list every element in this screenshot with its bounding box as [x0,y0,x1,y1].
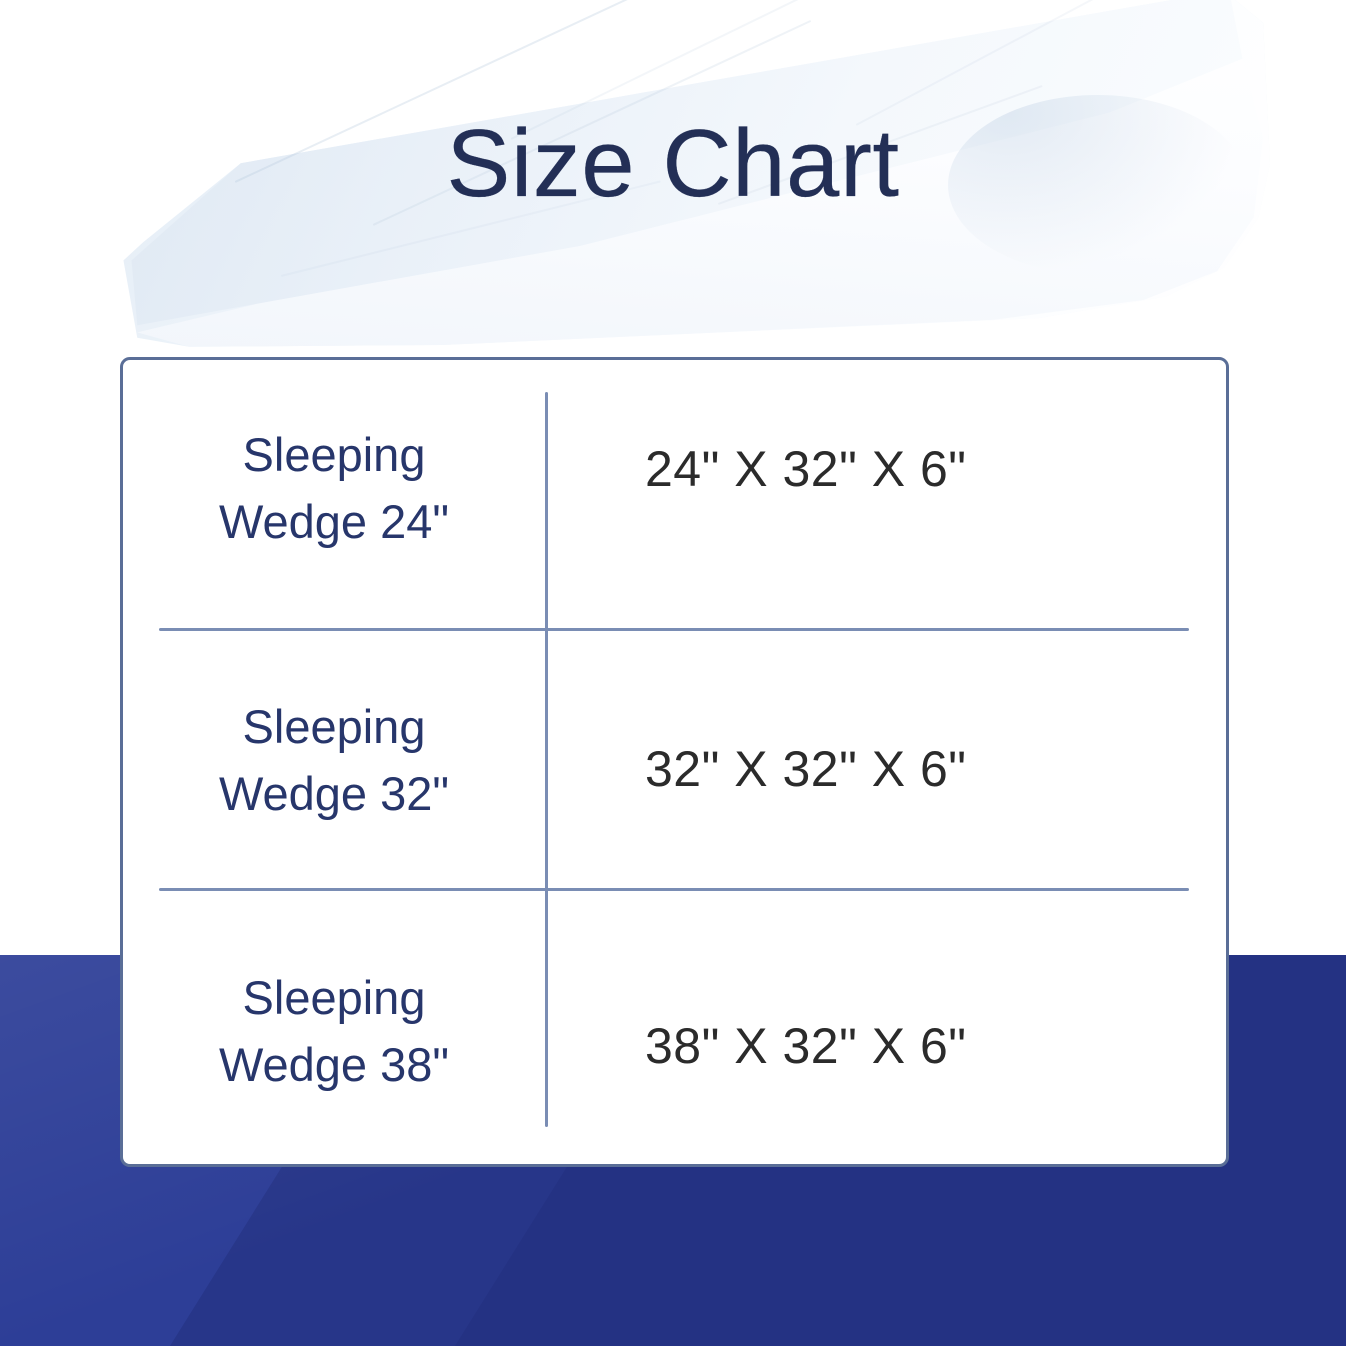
product-name-line: Wedge 38" [141,1032,527,1099]
product-name-cell: Sleeping Wedge 32" [123,694,545,827]
product-name-line: Sleeping [141,694,527,761]
page-title: Size Chart [0,116,1346,212]
dimensions-cell: 38" X 32" X 6" [545,1017,1226,1075]
size-table: Sleeping Wedge 24" 24" X 32" X 6" Sleepi… [120,357,1229,1167]
dimensions-cell: 24" X 32" X 6" [545,440,1226,498]
product-name-line: Sleeping [141,422,527,489]
product-name-line: Wedge 32" [141,761,527,828]
product-name-line: Wedge 24" [141,489,527,556]
table-row: Sleeping Wedge 38" 38" X 32" X 6" [123,891,1226,1164]
table-row: Sleeping Wedge 32" 32" X 32" X 6" [123,631,1226,890]
dimensions-cell: 32" X 32" X 6" [545,740,1226,798]
product-name-cell: Sleeping Wedge 24" [123,422,545,555]
product-name-line: Sleeping [141,965,527,1032]
table-row: Sleeping Wedge 24" 24" X 32" X 6" [123,360,1226,630]
size-chart-graphic: Size Chart Sleeping Wedge 24" 24" X 32" … [0,0,1346,1346]
product-name-cell: Sleeping Wedge 38" [123,965,545,1098]
